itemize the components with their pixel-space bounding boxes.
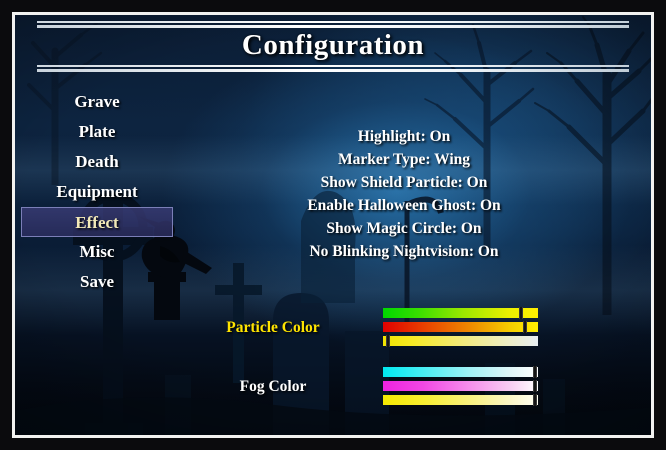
sidebar-item-label: Plate: [79, 122, 116, 141]
particle-color-label[interactable]: Particle Color: [175, 319, 371, 337]
sidebar-item-death[interactable]: Death: [21, 147, 173, 177]
setting-row-show-shield-particle[interactable]: Show Shield Particle: On: [175, 171, 633, 194]
sidebar-item-label: Misc: [80, 242, 115, 261]
particle-slider-green[interactable]: [383, 322, 538, 332]
fog-slider-red[interactable]: [383, 367, 538, 377]
color-picker-fog: Fog Color: [175, 367, 595, 411]
sidebar-item-equipment[interactable]: Equipment: [21, 177, 173, 207]
sidebar-menu: Grave Plate Death Equipment Effect Misc …: [21, 87, 173, 297]
sidebar-item-save[interactable]: Save: [21, 267, 173, 297]
setting-value: On: [480, 197, 501, 214]
slider-knob[interactable]: [533, 394, 537, 406]
sidebar-item-grave[interactable]: Grave: [21, 87, 173, 117]
slider-knob[interactable]: [533, 366, 537, 378]
setting-row-enable-halloween-ghost[interactable]: Enable Halloween Ghost: On: [175, 194, 633, 217]
slider-knob[interactable]: [519, 307, 523, 319]
sidebar-item-label: Equipment: [56, 182, 137, 201]
page-title: Configuration: [15, 29, 651, 62]
setting-row-no-blinking-nightvision[interactable]: No Blinking Nightvision: On: [175, 240, 633, 263]
sidebar-item-misc[interactable]: Misc: [21, 237, 173, 267]
slider-knob[interactable]: [386, 335, 390, 347]
setting-value: On: [478, 243, 499, 260]
setting-label: Show Magic Circle:: [326, 220, 460, 237]
setting-label: No Blinking Nightvision:: [309, 243, 477, 260]
game-screen: Configuration Grave Plate Death Equipmen…: [0, 0, 666, 450]
header-rule-bottom: [37, 65, 629, 72]
header-rule-top: [37, 21, 629, 28]
setting-label: Highlight:: [358, 128, 430, 145]
setting-label: Enable Halloween Ghost:: [307, 197, 480, 214]
particle-slider-red[interactable]: [383, 308, 538, 318]
slider-knob[interactable]: [523, 321, 527, 333]
fog-color-label[interactable]: Fog Color: [175, 378, 371, 396]
sidebar-item-plate[interactable]: Plate: [21, 117, 173, 147]
particle-slider-blue[interactable]: [383, 336, 538, 346]
sidebar-item-label: Death: [75, 152, 118, 171]
setting-row-highlight[interactable]: Highlight: On: [175, 125, 633, 148]
setting-row-marker-type[interactable]: Marker Type: Wing: [175, 148, 633, 171]
setting-label: Show Shield Particle:: [321, 174, 467, 191]
sidebar-item-label: Grave: [74, 92, 119, 111]
sidebar-item-effect[interactable]: Effect: [21, 207, 173, 237]
setting-value: On: [430, 128, 451, 145]
color-picker-particle: Particle Color: [175, 308, 595, 352]
sidebar-item-label: Effect: [75, 213, 118, 232]
setting-value: On: [467, 174, 488, 191]
sidebar-item-label: Save: [80, 272, 114, 291]
slider-knob[interactable]: [533, 380, 537, 392]
particle-color-sliders: [383, 308, 538, 350]
setting-label: Marker Type:: [338, 151, 434, 168]
fog-slider-blue[interactable]: [383, 395, 538, 405]
settings-list: Highlight: On Marker Type: Wing Show Shi…: [175, 125, 633, 263]
setting-value: Wing: [434, 151, 470, 168]
setting-row-show-magic-circle[interactable]: Show Magic Circle: On: [175, 217, 633, 240]
config-window: Configuration Grave Plate Death Equipmen…: [12, 12, 654, 438]
fog-slider-green[interactable]: [383, 381, 538, 391]
fog-color-sliders: [383, 367, 538, 409]
setting-value: On: [461, 220, 482, 237]
